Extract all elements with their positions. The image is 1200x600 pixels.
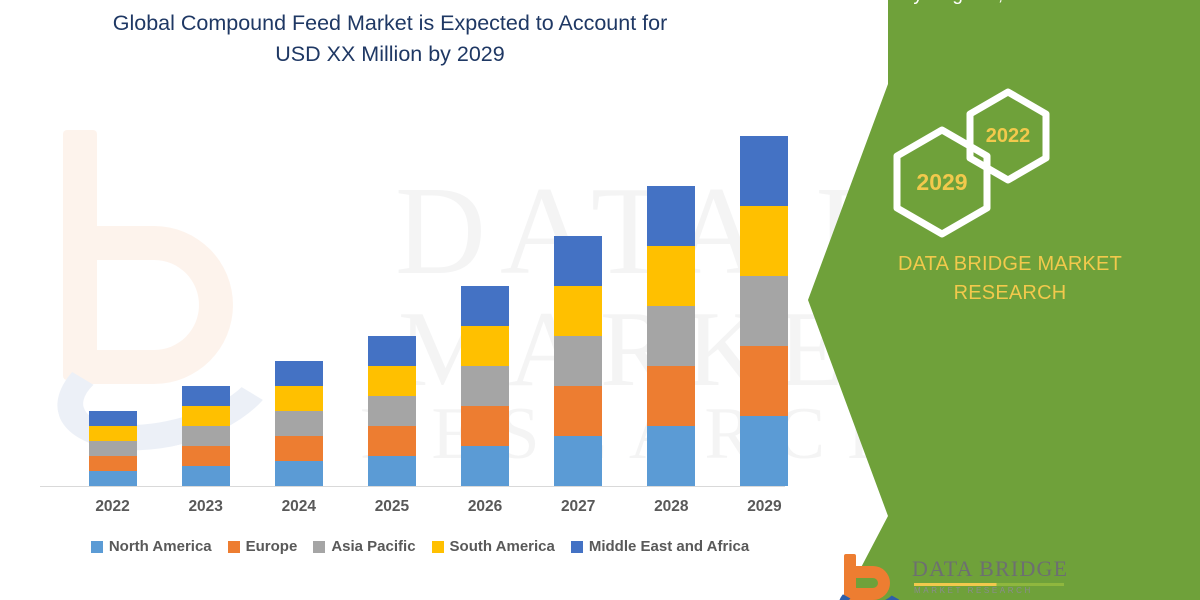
chart-title-line-1: Global Compound Feed Market is Expected … <box>40 8 740 39</box>
bar-group-2027 <box>554 236 602 486</box>
legend-swatch-icon <box>571 541 583 553</box>
hexagon-badge-end-year-label: 2029 <box>916 169 967 196</box>
chart-plot-area <box>40 95 785 487</box>
legend-label: Middle East and Africa <box>589 538 749 555</box>
legend-item[interactable]: Middle East and Africa <box>571 538 749 555</box>
bar-group-2028 <box>647 186 695 486</box>
bar-segment <box>89 411 137 426</box>
bar-segment <box>647 246 695 306</box>
bar-segment <box>275 386 323 411</box>
bar-segment <box>368 396 416 426</box>
chart-legend: North AmericaEuropeAsia PacificSouth Ame… <box>40 538 800 555</box>
bar-segment <box>368 456 416 486</box>
bar-segment <box>275 461 323 486</box>
bar-segment <box>182 446 230 466</box>
corner-logo-name: DATA BRIDGE <box>912 556 1068 582</box>
infographic-canvas: DATA BRIDGE MARKET RESEARCH Global Compo… <box>0 0 1200 600</box>
panel-brand-line-1: DATA BRIDGE MARKET <box>820 250 1200 279</box>
legend-swatch-icon <box>432 541 444 553</box>
bar-segment <box>647 426 695 486</box>
bar-segment <box>554 386 602 436</box>
corner-logo-subtitle: MARKET RESEARCH <box>914 586 1033 595</box>
bar-segment <box>461 366 509 406</box>
legend-item[interactable]: North America <box>91 538 212 555</box>
hexagon-badge-start-year-label: 2022 <box>986 125 1031 148</box>
chart-baseline <box>40 486 785 487</box>
bar-segment <box>461 446 509 486</box>
chart-title: Global Compound Feed Market is Expected … <box>40 8 740 70</box>
bar-group-2029 <box>740 136 788 486</box>
bar-segment <box>182 466 230 486</box>
legend-label: North America <box>109 538 212 555</box>
chart-title-line-2: USD XX Million by 2029 <box>40 39 740 70</box>
corner-logo: DATA BRIDGE MARKET RESEARCH <box>840 552 1180 600</box>
bar-segment <box>647 306 695 366</box>
x-axis-label-2024: 2024 <box>260 498 338 516</box>
panel-brand-text: DATA BRIDGE MARKET RESEARCH <box>820 250 1200 308</box>
bar-segment <box>740 206 788 276</box>
bar-group-2023 <box>182 386 230 486</box>
legend-item[interactable]: Europe <box>228 538 298 555</box>
legend-swatch-icon <box>313 541 325 553</box>
panel-heading: By Regions, 2022 to 2029 <box>840 0 1180 8</box>
bar-segment <box>275 436 323 461</box>
bar-segment <box>182 426 230 446</box>
x-axis-label-2023: 2023 <box>167 498 245 516</box>
bar-segment <box>554 436 602 486</box>
legend-swatch-icon <box>91 541 103 553</box>
panel-brand-line-2: RESEARCH <box>820 279 1200 308</box>
bar-segment <box>275 411 323 436</box>
bar-group-2026 <box>461 286 509 486</box>
legend-item[interactable]: South America <box>432 538 555 555</box>
bar-segment <box>89 471 137 486</box>
hexagon-badge-end-year: 2029 <box>888 126 996 238</box>
legend-label: Europe <box>246 538 298 555</box>
bar-segment <box>740 276 788 346</box>
legend-label: South America <box>450 538 555 555</box>
x-axis-label-2022: 2022 <box>74 498 152 516</box>
legend-label: Asia Pacific <box>331 538 415 555</box>
bar-segment <box>554 286 602 336</box>
bar-segment <box>647 366 695 426</box>
x-axis-label-2026: 2026 <box>446 498 524 516</box>
bar-segment <box>461 326 509 366</box>
bar-segment <box>275 361 323 386</box>
bar-group-2022 <box>89 411 137 486</box>
bar-segment <box>368 336 416 366</box>
bar-segment <box>89 441 137 456</box>
bar-segment <box>368 426 416 456</box>
legend-swatch-icon <box>228 541 240 553</box>
bar-segment <box>182 406 230 426</box>
bar-segment <box>182 386 230 406</box>
x-axis-label-2025: 2025 <box>353 498 431 516</box>
bar-segment <box>89 456 137 471</box>
bar-segment <box>554 236 602 286</box>
bar-segment <box>554 336 602 386</box>
x-axis-labels: 20222023202420252026202720282029 <box>40 498 785 522</box>
legend-item[interactable]: Asia Pacific <box>313 538 415 555</box>
bar-segment <box>740 416 788 486</box>
x-axis-label-2029: 2029 <box>725 498 803 516</box>
x-axis-label-2028: 2028 <box>632 498 710 516</box>
x-axis-label-2027: 2027 <box>539 498 617 516</box>
bar-group-2024 <box>275 361 323 486</box>
right-green-panel: By Regions, 2022 to 2029 2022 2029 DATA … <box>800 0 1200 600</box>
bar-group-2025 <box>368 336 416 486</box>
bar-segment <box>89 426 137 441</box>
bar-segment <box>740 136 788 206</box>
bar-segment <box>740 346 788 416</box>
bar-segment <box>368 366 416 396</box>
bar-series-container <box>40 96 785 486</box>
bar-segment <box>461 406 509 446</box>
bar-segment <box>461 286 509 326</box>
bar-segment <box>647 186 695 246</box>
hexagon-badges: 2022 2029 <box>860 88 1160 238</box>
